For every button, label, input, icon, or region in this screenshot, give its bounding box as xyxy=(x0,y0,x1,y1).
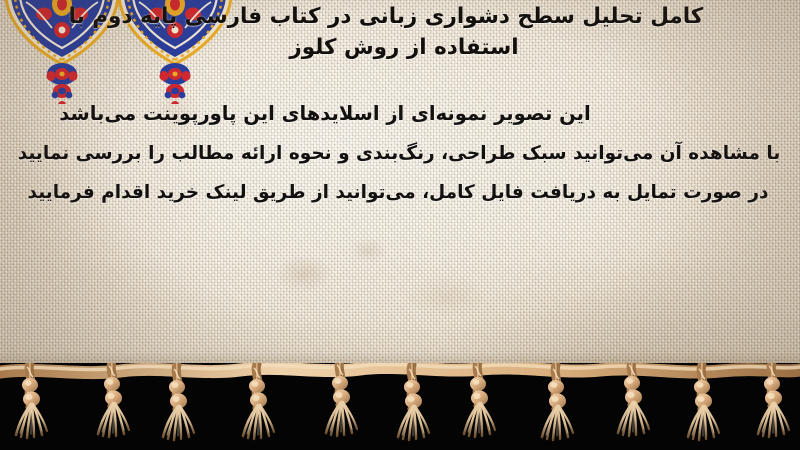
presentation-slide: کامل تحلیل سطح دشواری زبانی در کتاب فارس… xyxy=(0,0,800,450)
slide-title: کامل تحلیل سطح دشواری زبانی در کتاب فارس… xyxy=(16,2,786,63)
slide-body: این تصویر نمونه‌ای از اسلایدهای این پاور… xyxy=(0,104,800,224)
title-line-2: استفاده از روش کلوز xyxy=(16,33,786,64)
body-line-2: با مشاهده آن می‌توانید سبک طراحی، رنگ‌بن… xyxy=(0,145,800,164)
title-line-1: کامل تحلیل سطح دشواری زبانی در کتاب فارس… xyxy=(16,2,786,33)
body-line-1: این تصویر نمونه‌ای از اسلایدهای این پاور… xyxy=(0,104,800,124)
slide-text-layer: کامل تحلیل سطح دشواری زبانی در کتاب فارس… xyxy=(0,0,800,380)
body-line-3: در صورت تمایل به دریافت فایل کامل، می‌تو… xyxy=(0,184,800,203)
carpet-tassel-fringe xyxy=(0,363,800,450)
tassel-fringe-graphic xyxy=(0,363,800,450)
